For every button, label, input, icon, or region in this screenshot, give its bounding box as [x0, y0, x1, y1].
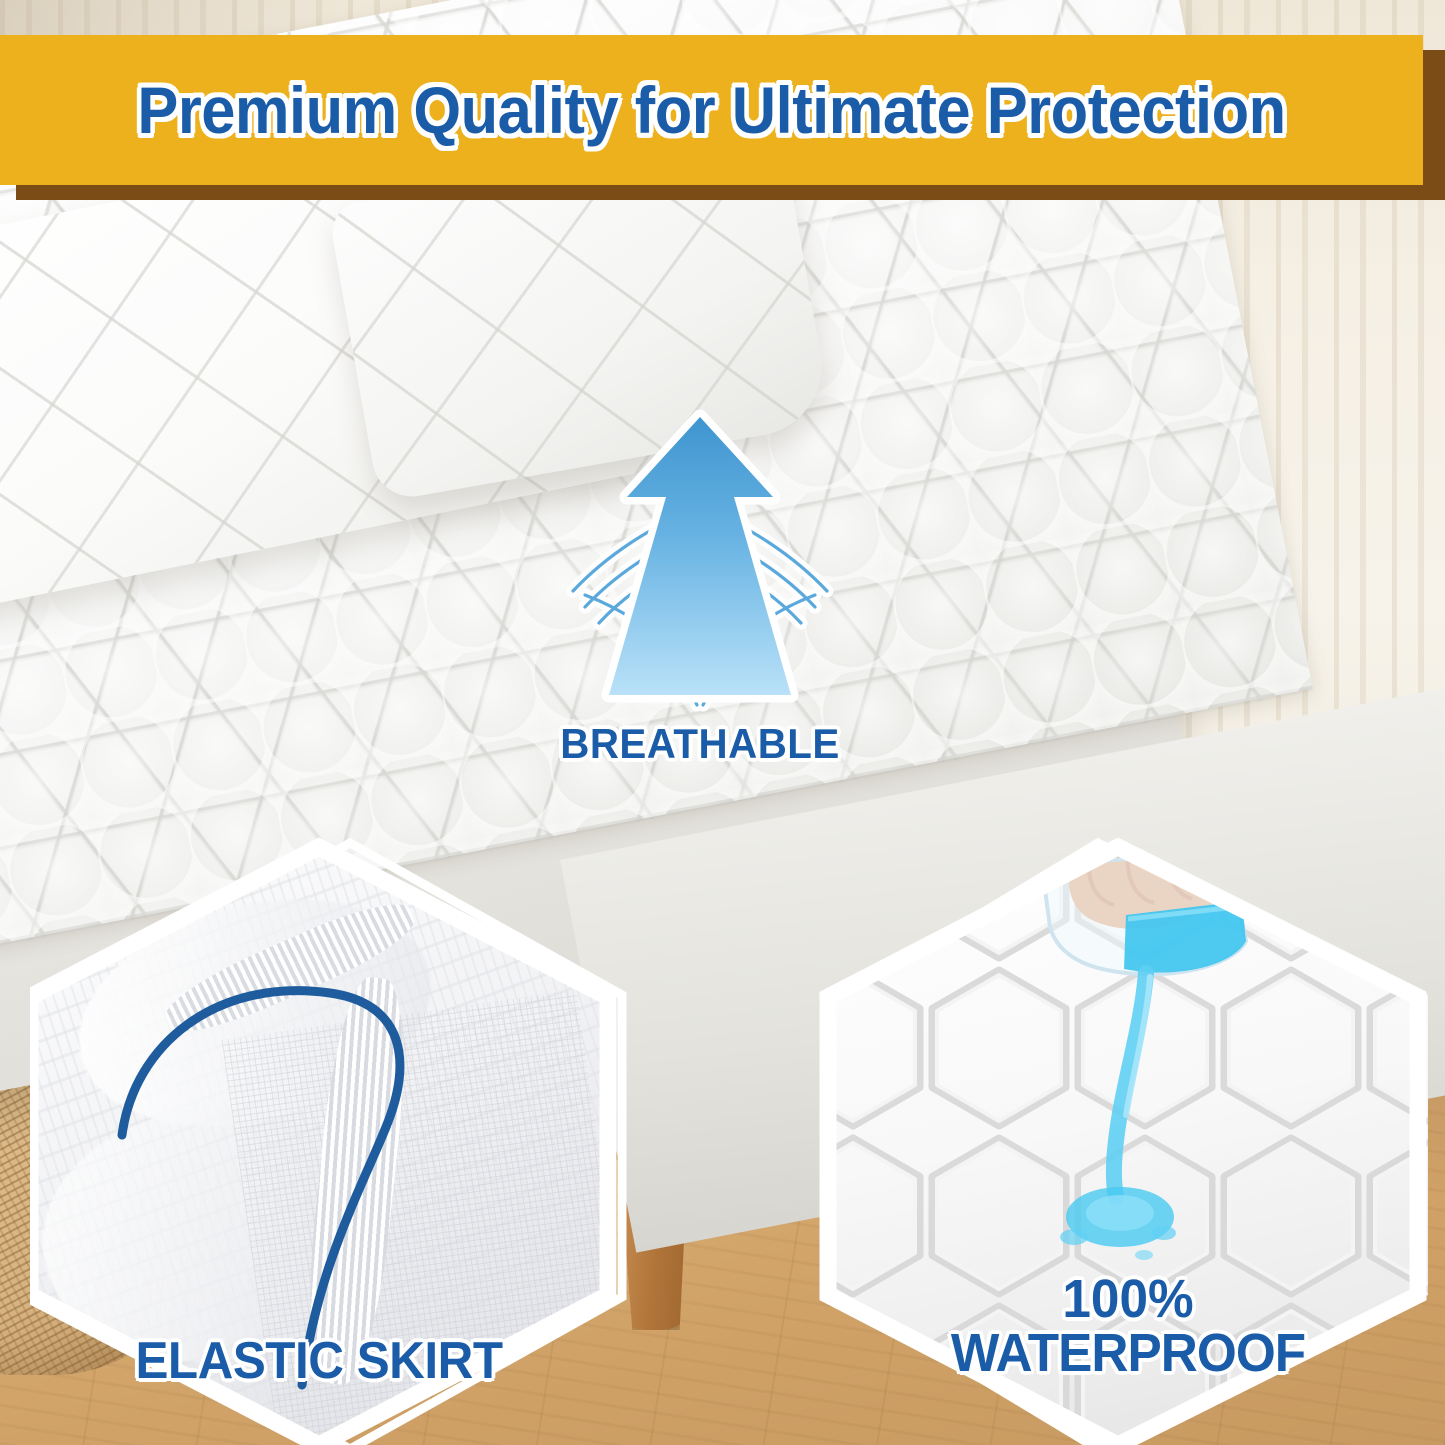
breathable-badge: BREATHABLE — [545, 405, 855, 800]
page-title: Premium Quality for Ultimate Protection — [50, 35, 1373, 185]
waterproof-label-line-1: 100% — [843, 1272, 1413, 1326]
product-infographic: Premium Quality for Ultimate Protection — [0, 0, 1445, 1445]
upward-airflow-arrow-icon — [545, 405, 855, 735]
elastic-skirt-label: ELASTIC SKIRT — [44, 1335, 593, 1387]
waterproof-label: 100% WATERPROOF — [828, 1272, 1428, 1380]
breathable-label: BREATHABLE — [551, 720, 849, 768]
waterproof-label-line-2: WATERPROOF — [843, 1326, 1413, 1380]
